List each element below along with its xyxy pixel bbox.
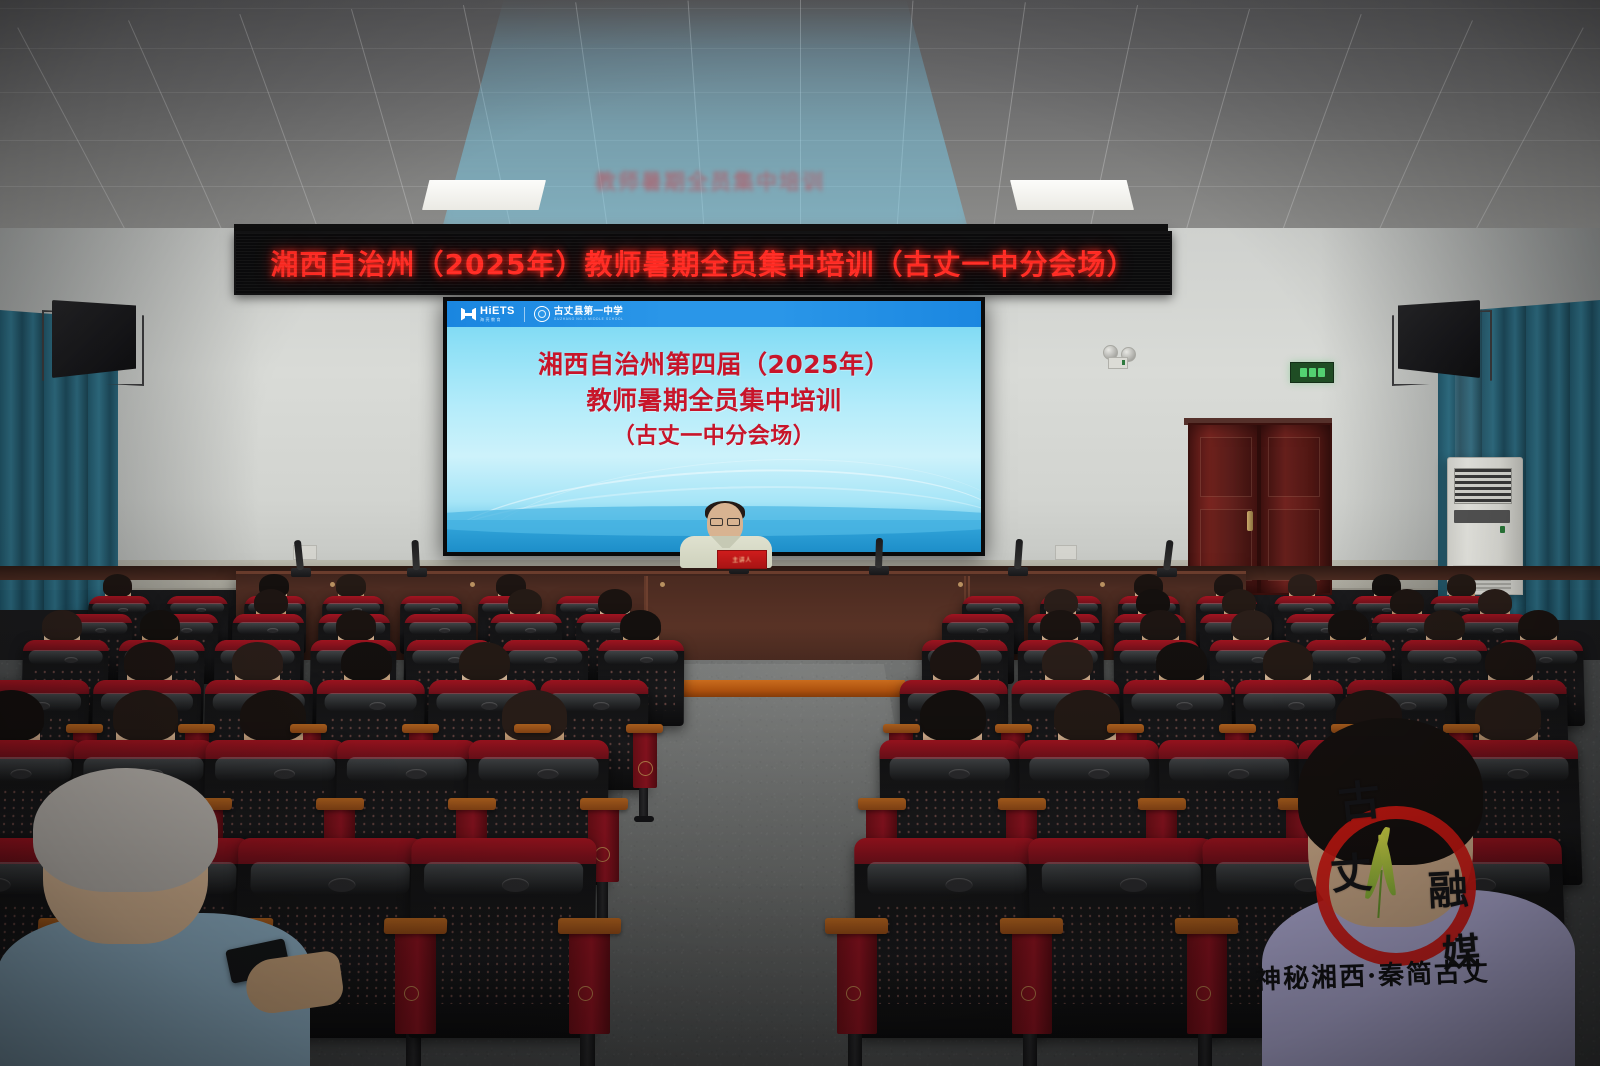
door-panel-2 — [1268, 437, 1320, 497]
microphone — [875, 538, 883, 568]
audience-hair — [920, 690, 986, 741]
seat-headrest-trim — [1235, 680, 1343, 694]
seat-side-panel — [1012, 930, 1053, 1034]
door-panel-1 — [1200, 437, 1252, 497]
seat-headrest-trim — [317, 680, 425, 694]
seat-gloss-highlight — [1042, 862, 1202, 894]
seat-logo-badge — [586, 608, 595, 612]
seat-writing-tablet[interactable] — [1000, 918, 1063, 934]
seat-perforation-pattern — [429, 904, 575, 1004]
seat-logo-badge — [369, 702, 385, 710]
seat-logo-badge — [1088, 769, 1109, 779]
seat-writing-tablet[interactable] — [66, 724, 103, 733]
slide-title: 湘西自治州第四届（2025年） 教师暑期全员集中培训 （古丈一中分会场） — [447, 347, 981, 455]
wall-speaker-right — [1398, 300, 1480, 378]
seat-logo-badge — [948, 769, 969, 779]
seat-logo-badge — [992, 608, 1001, 612]
seat-gloss-highlight — [889, 757, 1010, 780]
seat-logo-badge — [1228, 769, 1249, 779]
audience-hair — [930, 642, 981, 681]
audience-hair — [1478, 589, 1512, 615]
audience-hair — [1054, 690, 1120, 741]
audience-hair — [113, 690, 179, 741]
seat-writing-tablet[interactable] — [1107, 724, 1144, 733]
seat-logo-badge — [267, 628, 278, 633]
logo-divider — [524, 307, 525, 322]
seat-headrest-trim — [469, 740, 609, 759]
seat-headrest-trim — [854, 838, 1039, 864]
audience-hair — [1390, 589, 1424, 615]
seat-writing-tablet[interactable] — [997, 798, 1045, 810]
ac-display-panel — [1454, 510, 1510, 523]
presenter-name-card: 主讲人 — [717, 550, 767, 569]
audience-hair — [240, 690, 306, 741]
seat-logo-badge — [197, 608, 206, 612]
seat-writing-tablet[interactable] — [825, 918, 888, 934]
audience-hair — [1518, 610, 1558, 641]
seat-writing-tablet[interactable] — [178, 724, 215, 733]
seat-logo-badge — [481, 702, 497, 710]
attendee-hair — [33, 768, 218, 892]
seat-side-emblem — [1021, 986, 1036, 1001]
audience-hair — [336, 574, 365, 596]
seat-side-panel — [837, 930, 878, 1034]
ceiling-reflection-text: 教师暑期全员集中培训 — [520, 168, 900, 230]
seat-headrest-trim — [337, 740, 477, 759]
seat-logo-badge — [96, 628, 107, 633]
hiets-logo-cn: 海亮教育 — [480, 318, 515, 322]
audience-hair — [1263, 642, 1314, 681]
seat-side-panel — [633, 731, 657, 788]
seat-headrest-trim — [411, 838, 596, 864]
seat-writing-tablet[interactable] — [883, 724, 920, 733]
ac-power-led-icon — [1500, 526, 1505, 533]
hiets-logo: HiETS 海亮教育 — [461, 306, 515, 322]
seat-logo-badge — [1304, 608, 1313, 612]
audience-hair — [1485, 642, 1536, 681]
seat-writing-tablet[interactable] — [626, 724, 663, 733]
attendee-hair — [1298, 718, 1483, 864]
led-banner: 湘西自治州（2025年）教师暑期全员集中培训（古丈一中分会场） — [234, 231, 1172, 295]
wall-sensor-fixture — [1103, 337, 1135, 367]
seat-support-leg — [639, 786, 648, 819]
seat-logo-badge — [430, 608, 439, 612]
seat-logo-badge — [1460, 608, 1469, 612]
seat-headrest-trim — [540, 680, 648, 694]
audience-hair — [502, 690, 568, 741]
seat-headrest-trim — [1123, 680, 1231, 694]
microphone — [411, 540, 420, 570]
exit-sign — [1290, 362, 1334, 383]
audience-hair — [254, 589, 288, 615]
ceiling-grid-line-v — [128, 20, 225, 236]
slide-header-bar: HiETS 海亮教育 古丈县第一中学 GUZHANG NO.1 MIDDLE S… — [447, 301, 981, 327]
podium-stud — [1100, 582, 1105, 587]
audience-hair — [1447, 574, 1476, 596]
seat-side-panel — [395, 930, 436, 1034]
seat-headrest-trim — [1019, 740, 1159, 759]
seat-writing-tablet[interactable] — [995, 724, 1032, 733]
seat-logo-badge — [405, 769, 426, 779]
slide-title-line-3: （古丈一中分会场） — [447, 419, 981, 455]
seat-support-leg — [1198, 1030, 1213, 1066]
seat-writing-tablet[interactable] — [448, 798, 496, 810]
ac-vent-grille — [1454, 468, 1512, 504]
presenter-name-card-text: 主讲人 — [732, 555, 752, 564]
seat-side-panel — [569, 930, 610, 1034]
ceiling-grid-line-v — [351, 9, 417, 236]
audience-hair — [1424, 610, 1464, 641]
ceiling-light-panel-left — [422, 180, 546, 210]
audience-hair — [1042, 642, 1093, 681]
audience-hair — [459, 642, 510, 681]
foreground-attendee-right — [1255, 700, 1585, 1066]
slide-title-line-1: 湘西自治州第四届（2025年） — [447, 347, 981, 383]
podium-stud — [330, 582, 335, 587]
audience-hair — [508, 589, 542, 615]
seat-writing-tablet[interactable] — [558, 918, 621, 934]
audience-hair — [232, 642, 283, 681]
seat-headrest-trim — [879, 740, 1019, 759]
seat-logo-badge — [182, 628, 193, 633]
seat-logo-badge — [977, 628, 988, 633]
ceiling-grid-line-v — [1376, 20, 1473, 236]
hiets-logo-en: HiETS — [480, 306, 515, 317]
seat-logo-badge — [119, 608, 128, 612]
audience-hair — [42, 610, 82, 641]
seat-writing-tablet[interactable] — [402, 724, 439, 733]
seat-side-emblem — [1196, 986, 1211, 1001]
audience-hair — [341, 642, 392, 681]
led-banner-text: 湘西自治州（2025年）教师暑期全员集中培训（古丈一中分会场） — [271, 243, 1136, 283]
audience-hair — [1231, 610, 1271, 641]
school-logo: 古丈县第一中学 GUZHANG NO.1 MIDDLE SCHOOL — [534, 306, 624, 322]
school-seal-icon — [534, 306, 550, 322]
conference-hall-photo: 教师暑期全员集中培训 湘西自治州（2025年）教师暑期全员集中培训（古丈一中分会… — [0, 0, 1600, 1066]
seat-perforation-pattern — [875, 904, 1020, 1004]
seat-floor-foot — [634, 816, 655, 822]
seat-logo-badge — [593, 702, 609, 710]
presenter-glasses-icon — [710, 518, 740, 525]
seat-writing-tablet[interactable] — [1219, 724, 1256, 733]
seat-logo-badge — [1176, 702, 1192, 710]
seat-gloss-highlight — [478, 757, 599, 780]
seat-logo-badge — [1493, 628, 1504, 633]
wall-control-box — [1108, 357, 1128, 369]
hiets-mark-icon — [461, 308, 476, 321]
podium-stud — [958, 582, 963, 587]
seat-gloss-highlight — [1029, 757, 1150, 780]
seat-writing-tablet[interactable] — [858, 798, 906, 810]
audience-hair — [1140, 610, 1180, 641]
ceiling-grid-line-v — [1184, 9, 1250, 236]
slide-title-line-2: 教师暑期全员集中培训 — [447, 383, 981, 419]
seat-writing-tablet[interactable] — [580, 798, 628, 810]
seat-gloss-highlight — [346, 757, 467, 780]
seat-headrest-trim — [1011, 680, 1119, 694]
seat-logo-badge — [537, 769, 558, 779]
seat-logo-badge — [439, 628, 450, 633]
seat-support-leg — [1023, 1030, 1038, 1066]
audience-hair — [103, 574, 132, 596]
ceiling-grid-line-v — [17, 27, 129, 236]
seat-gloss-highlight — [867, 862, 1026, 894]
audience-hair — [1040, 610, 1080, 641]
seat-logo-badge — [525, 628, 536, 633]
podium-stud — [470, 582, 475, 587]
ceiling: 教师暑期全员集中培训 — [0, 0, 1600, 236]
seat-headrest-trim — [1028, 838, 1213, 864]
wall-speaker-left — [52, 300, 136, 378]
audience-hair — [1328, 610, 1368, 641]
seat-logo-badge — [1120, 878, 1148, 892]
audience-hair — [620, 610, 660, 641]
school-logo-cn: 古丈县第一中学 — [554, 307, 624, 317]
seat-support-leg — [597, 879, 608, 923]
ceiling-grid-line-v — [1472, 27, 1584, 236]
audience-hair — [598, 589, 632, 615]
seat-writing-tablet[interactable] — [384, 918, 447, 934]
seat-writing-tablet[interactable] — [1137, 798, 1185, 810]
seat-logo-badge — [945, 878, 973, 892]
audience-hair — [1156, 642, 1207, 681]
seat-side-panel — [1187, 930, 1228, 1034]
school-logo-en: GUZHANG NO.1 MIDDLE SCHOOL — [554, 318, 624, 321]
seat-writing-tablet[interactable] — [514, 724, 551, 733]
audience-hair — [140, 610, 180, 641]
seat-support-leg — [848, 1030, 863, 1066]
seat-logo-badge — [1407, 628, 1418, 633]
audience-hair — [336, 610, 376, 641]
seat-writing-tablet[interactable] — [316, 798, 364, 810]
door-handle[interactable] — [1247, 511, 1253, 531]
seat-writing-tablet[interactable] — [1175, 918, 1239, 934]
seat-side-emblem — [846, 986, 861, 1001]
foreground-attendee-left — [0, 752, 320, 1062]
wall-outlet-right — [1055, 545, 1077, 560]
ceiling-light-panel-right — [1010, 180, 1134, 210]
podium-stud — [660, 582, 665, 587]
seat-writing-tablet[interactable] — [290, 724, 327, 733]
seat-support-leg — [580, 1030, 595, 1066]
audience-hair — [124, 642, 175, 681]
audience-hair — [1288, 574, 1317, 596]
